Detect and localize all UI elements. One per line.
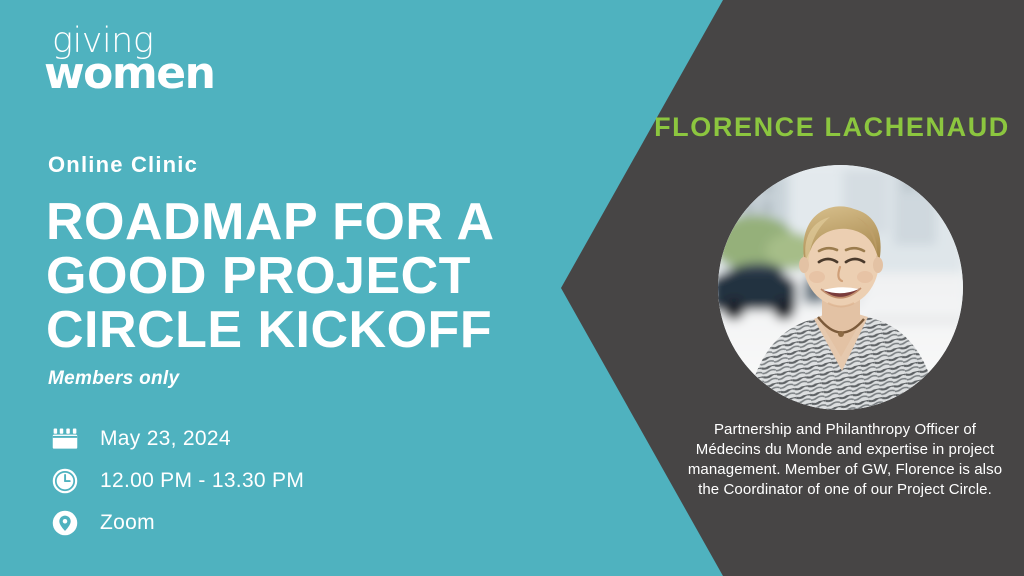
speaker-bio: Partnership and Philanthropy Officer of … [680,420,1010,500]
event-detail-location: Zoom [48,502,468,544]
event-detail-date: May 23, 2024 [48,418,468,460]
event-details-list: May 23, 2024 12.00 PM - 13.30 PM [48,418,468,544]
logo-line-women: women [44,50,214,98]
logo-letter-w: w [44,48,83,99]
clock-icon [48,464,82,498]
logo-letters-men: men [112,48,215,99]
event-audience-note: Members only [48,368,179,390]
event-poster: giving women Online Clinic ROADMAP FOR A… [0,0,1024,576]
event-title: ROADMAP FOR A GOOD PROJECT CIRCLE KICKOF… [46,195,566,357]
speaker-portrait-photo [718,165,963,410]
logo-letter-o: o [83,50,112,98]
giving-women-logo: giving women [44,22,294,94]
speaker-name: FLORENCE LACHENAUD [640,112,1024,143]
location-pin-icon [48,506,82,540]
event-detail-time: 12.00 PM - 13.30 PM [48,460,468,502]
event-eyebrow: Online Clinic [48,152,198,178]
event-location-text: Zoom [100,511,155,535]
event-date-text: May 23, 2024 [100,427,231,451]
event-time-text: 12.00 PM - 13.30 PM [100,469,304,493]
calendar-icon [48,422,82,456]
